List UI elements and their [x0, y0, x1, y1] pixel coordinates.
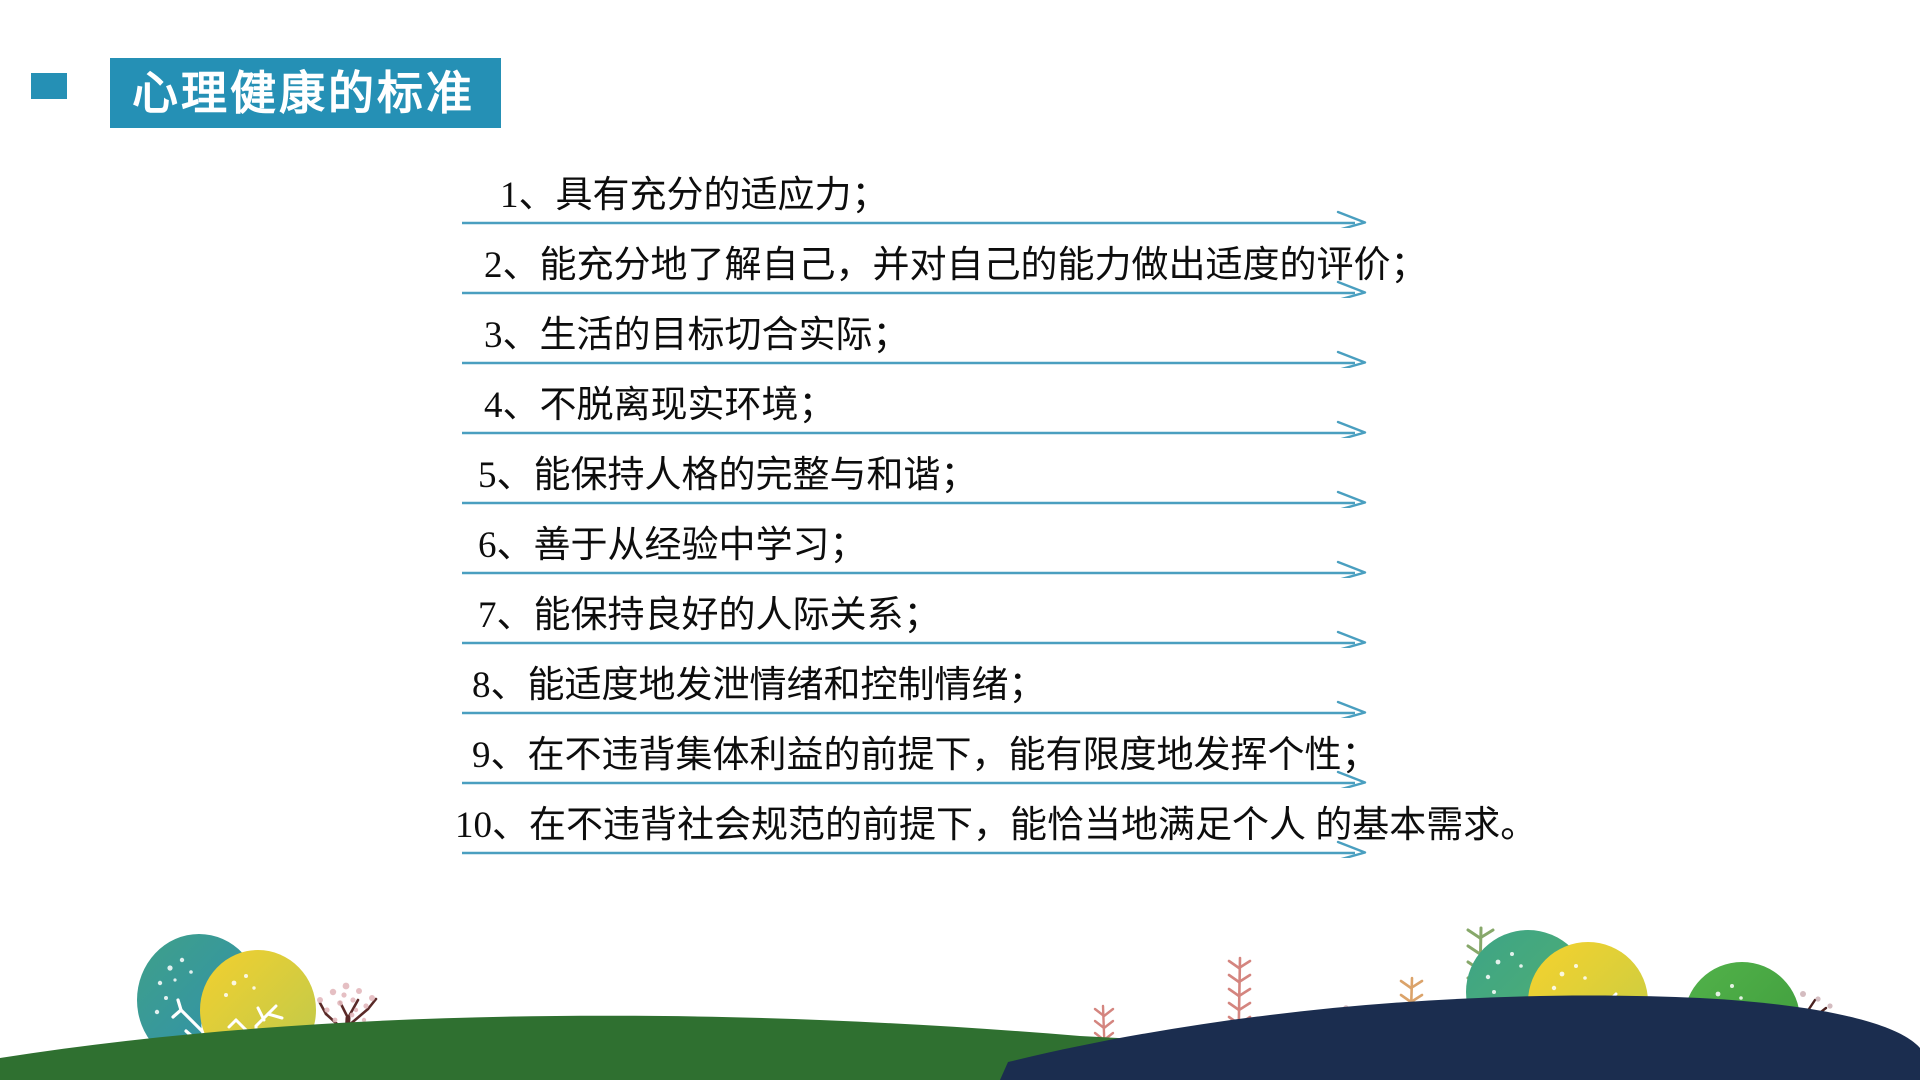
list-item: 2、能充分地了解自己，并对自己的能力做出适度的评价； [0, 228, 1920, 298]
hill-right [1000, 996, 1920, 1080]
list-item: 9、在不违背集体利益的前提下，能有限度地发挥个性； [0, 718, 1920, 788]
arrow-divider-icon [462, 280, 1372, 298]
arrow-divider-icon [462, 490, 1372, 508]
list-item: 5、能保持人格的完整与和谐； [0, 438, 1920, 508]
list-item-text: 3、生活的目标切合实际； [484, 317, 910, 354]
list-item: 1、具有充分的适应力； [0, 158, 1920, 228]
criteria-list: 1、具有充分的适应力；2、能充分地了解自己，并对自己的能力做出适度的评价；3、生… [0, 158, 1920, 888]
list-item: 8、能适度地发泄情绪和控制情绪； [0, 648, 1920, 718]
list-item: 6、善于从经验中学习； [0, 508, 1920, 578]
arrow-divider-icon [462, 350, 1372, 368]
list-item-text: 2、能充分地了解自己，并对自己的能力做出适度的评价； [484, 247, 1428, 284]
arrow-divider-icon [462, 560, 1372, 578]
list-item-text: 4、不脱离现实环境； [484, 387, 836, 424]
arrow-divider-icon [462, 420, 1372, 438]
list-item: 3、生活的目标切合实际； [0, 298, 1920, 368]
decorative-scenery [0, 820, 1920, 1080]
slide-header: 心理健康的标准 [0, 0, 1920, 150]
list-item-text: 1、具有充分的适应力； [500, 177, 889, 214]
square-marker-icon [31, 73, 67, 99]
scenery-svg [0, 820, 1920, 1080]
arrow-divider-icon [462, 700, 1372, 718]
page-title: 心理健康的标准 [132, 70, 475, 116]
title-banner: 心理健康的标准 [110, 58, 501, 128]
arrow-divider-icon [462, 630, 1372, 648]
list-item-text: 9、在不违背集体利益的前提下，能有限度地发挥个性； [472, 737, 1379, 774]
arrow-divider-icon [462, 210, 1372, 228]
list-item: 4、不脱离现实环境； [0, 368, 1920, 438]
list-item-text: 8、能适度地发泄情绪和控制情绪； [472, 667, 1046, 704]
list-item-text: 7、能保持良好的人际关系； [478, 597, 941, 634]
list-item-text: 5、能保持人格的完整与和谐； [478, 457, 978, 494]
list-item-text: 6、善于从经验中学习； [478, 527, 867, 564]
list-item: 7、能保持良好的人际关系； [0, 578, 1920, 648]
arrow-divider-icon [462, 770, 1372, 788]
